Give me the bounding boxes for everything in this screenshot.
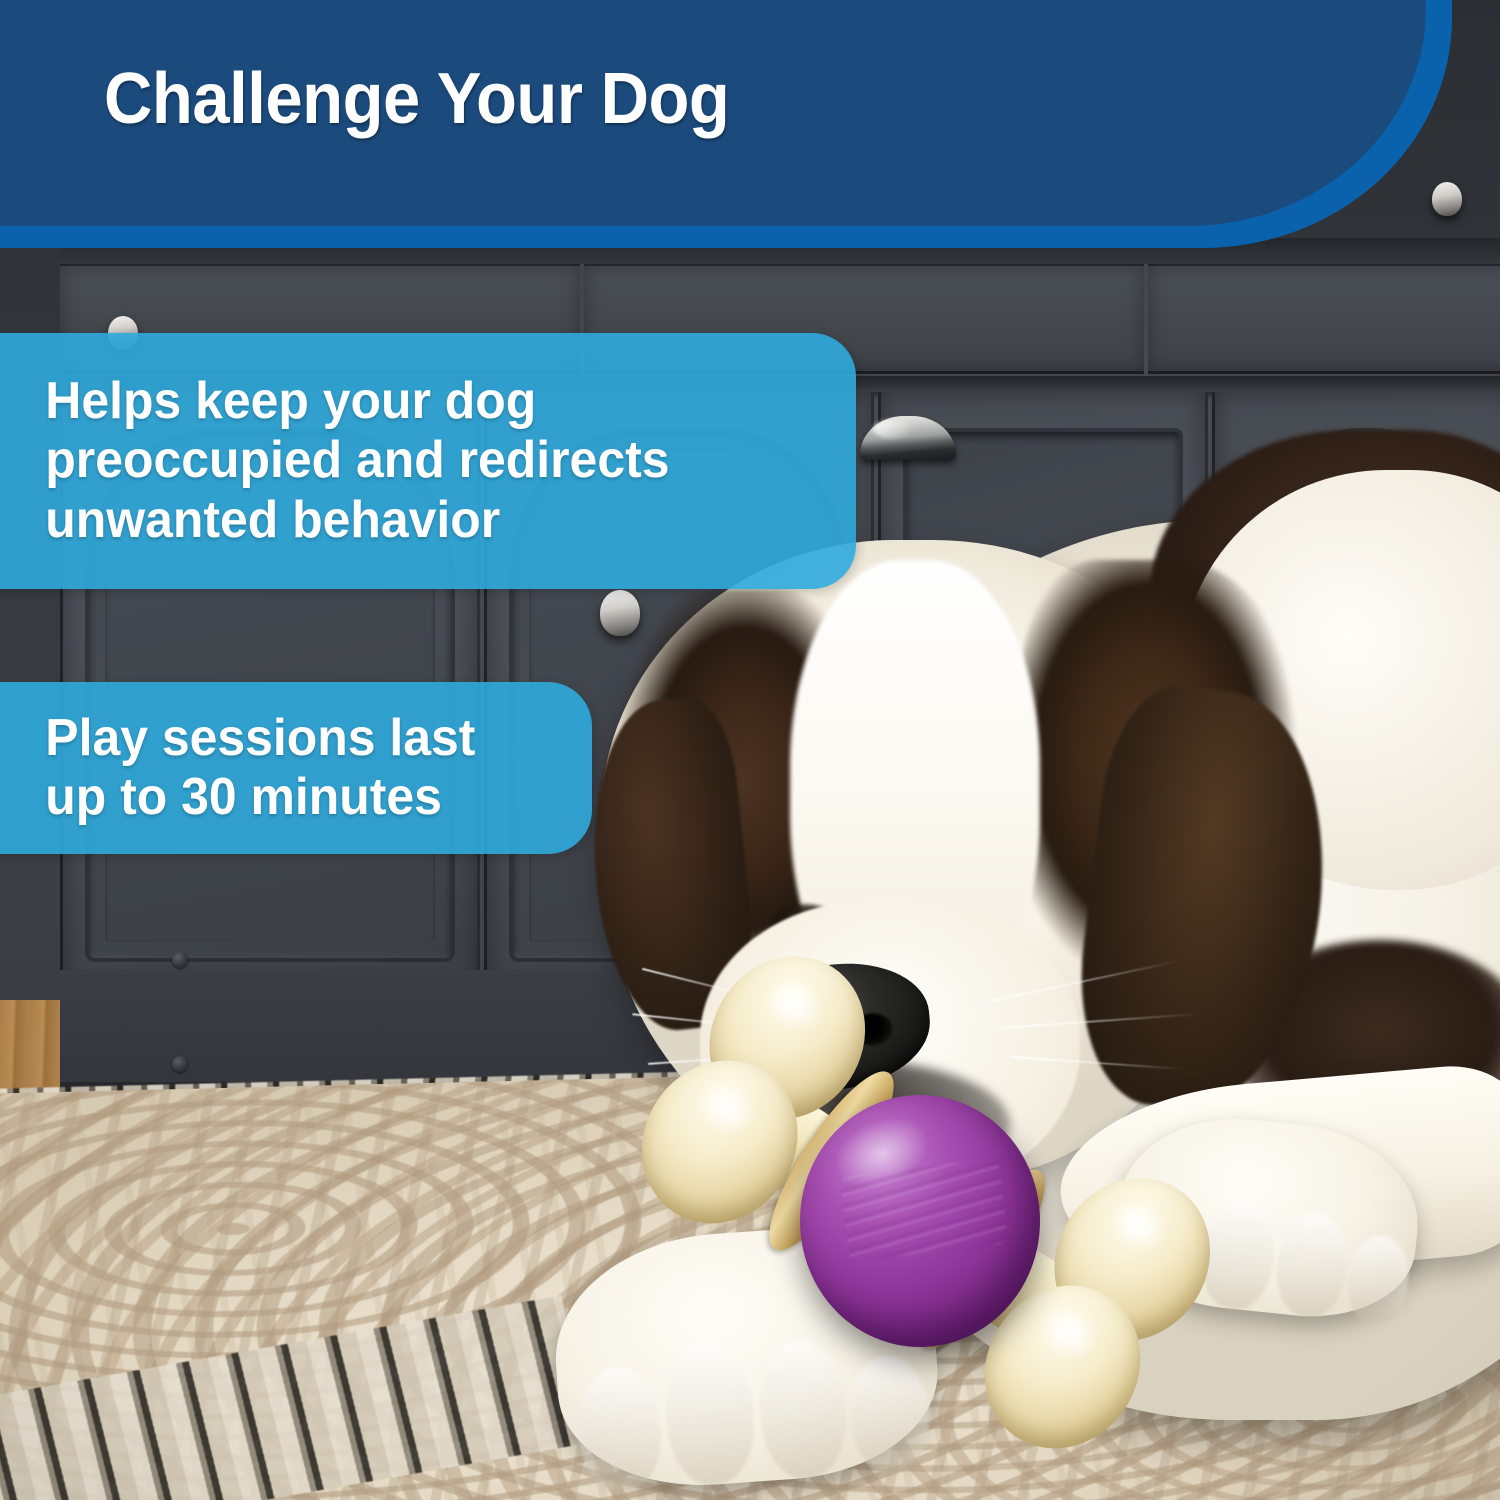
feature-callout-1-text: Helps keep your dog preoccupied and redi… (0, 372, 704, 550)
feature-callout-1: Helps keep your dog preoccupied and redi… (0, 333, 856, 589)
feature-callout-2: Play sessions last up to 30 minutes (0, 682, 592, 854)
page-title: Challenge Your Dog (104, 62, 729, 138)
feature-callout-2-text: Play sessions last up to 30 minutes (0, 709, 510, 828)
product-marketing-image: Challenge Your Dog Helps keep your dog p… (0, 0, 1500, 1500)
header-banner: Challenge Your Dog (0, 0, 1500, 250)
dog-toe (574, 1364, 664, 1493)
treat-ball (800, 1095, 1040, 1347)
dog-toe (661, 1340, 759, 1488)
treat-ball-logo-emboss (839, 1158, 1008, 1263)
dog-toe (1272, 1210, 1352, 1321)
